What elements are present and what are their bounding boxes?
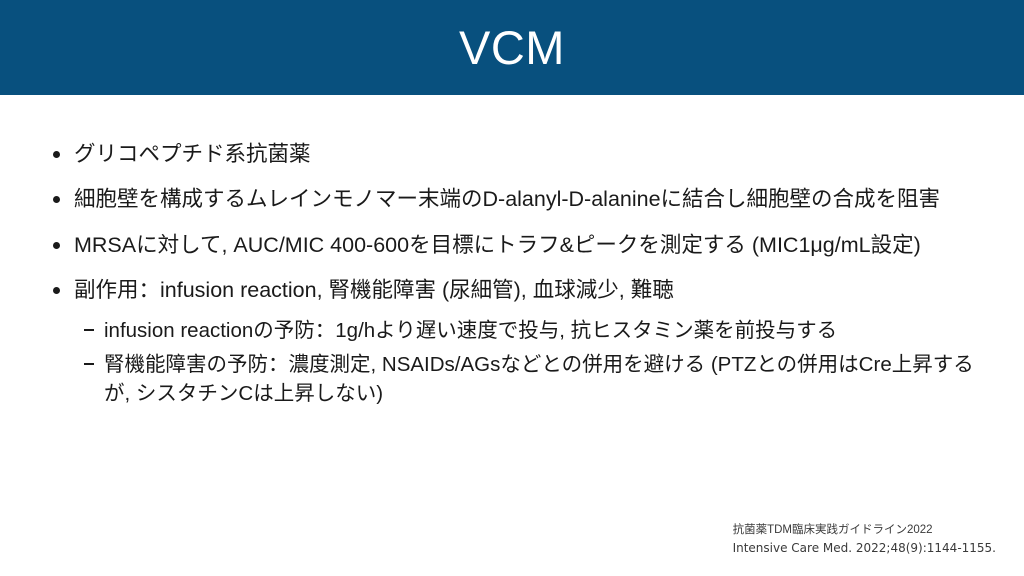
list-item: MRSAに対して, AUC/MIC 400-600を目標にトラフ&ピークを測定す… [50,231,990,259]
bullet-list: グリコペプチド系抗菌薬 細胞壁を構成するムレインモノマー末端のD-alanyl-… [50,140,990,425]
sub-bullet-list: infusion reactionの予防：1g/hより遅い速度で投与, 抗ヒスタ… [82,316,990,408]
sub-bullet-text: 腎機能障害の予防：濃度測定, NSAIDs/AGsなどとの併用を避ける (PTZ… [104,350,990,408]
bullet-text: 副作用：infusion reaction, 腎機能障害 (尿細管), 血球減少… [74,276,990,304]
bullet-dot-icon [53,196,60,203]
slide-header-banner: VCM [0,0,1024,95]
slide-title: VCM [459,24,565,71]
slide-body: グリコペプチド系抗菌薬 細胞壁を構成するムレインモノマー末端のD-alanyl-… [0,95,1024,576]
sub-list-item: infusion reactionの予防：1g/hより遅い速度で投与, 抗ヒスタ… [82,316,990,345]
dash-icon [84,329,94,331]
bullet-text: MRSAに対して, AUC/MIC 400-600を目標にトラフ&ピークを測定す… [74,231,990,259]
list-item: 細胞壁を構成するムレインモノマー末端のD-alanyl-D-alanineに結合… [50,185,990,213]
bullet-text: グリコペプチド系抗菌薬 [74,140,990,168]
bullet-dot-icon [53,287,60,294]
bullet-text: 細胞壁を構成するムレインモノマー末端のD-alanyl-D-alanineに結合… [74,185,990,213]
bullet-dot-icon [53,242,60,249]
dash-icon [84,363,94,365]
sub-bullet-text: infusion reactionの予防：1g/hより遅い速度で投与, 抗ヒスタ… [104,316,990,345]
citation-block: 抗菌薬TDM臨床実践ガイドライン2022 Intensive Care Med.… [733,522,996,558]
list-item: グリコペプチド系抗菌薬 [50,140,990,168]
sub-list-item: 腎機能障害の予防：濃度測定, NSAIDs/AGsなどとの併用を避ける (PTZ… [82,350,990,408]
citation-reference: Intensive Care Med. 2022;48(9):1144-1155… [733,539,996,558]
bullet-dot-icon [53,151,60,158]
list-item: 副作用：infusion reaction, 腎機能障害 (尿細管), 血球減少… [50,276,990,408]
citation-guideline: 抗菌薬TDM臨床実践ガイドライン2022 [733,522,996,540]
